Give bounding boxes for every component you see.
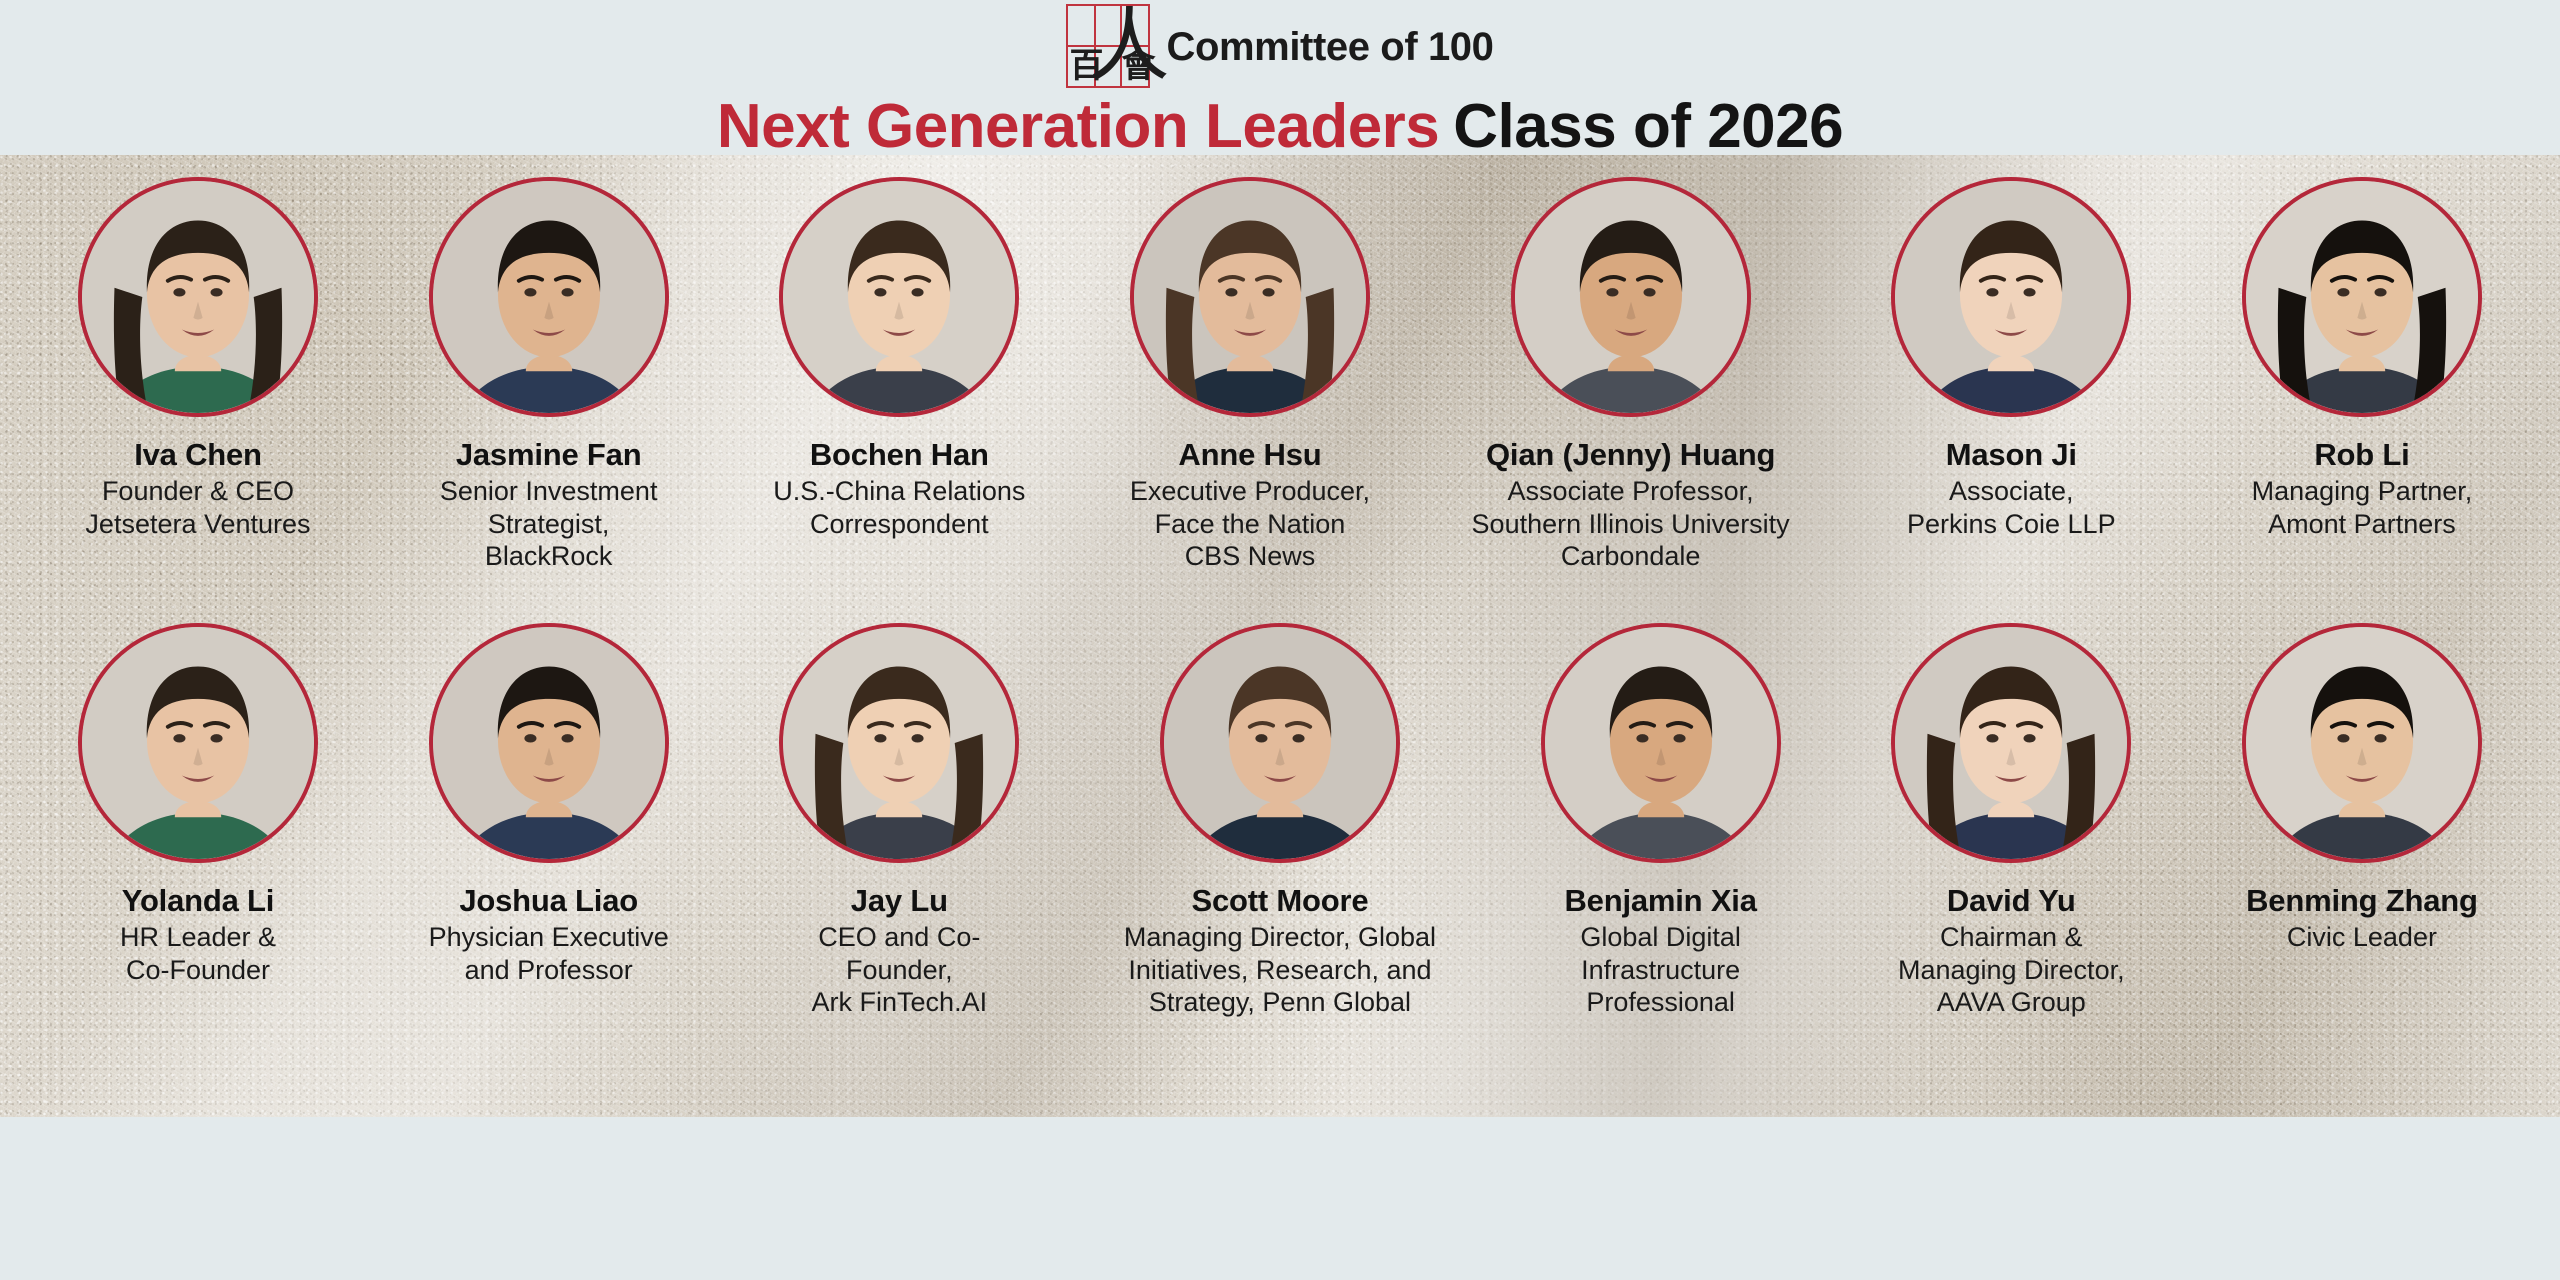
- honoree-name: Jay Lu: [851, 883, 948, 918]
- avatar-photo: [2246, 627, 2478, 859]
- brand-name: Committee of 100: [1166, 27, 1493, 67]
- honoree-title: Senior Investment Strategist, BlackRock: [440, 475, 658, 572]
- honoree-row-1: Iva Chen Founder & CEO Jetsetera Venture…: [0, 177, 2560, 573]
- honoree-card: Bochen Han U.S.-China Relations Correspo…: [729, 177, 1069, 573]
- avatar-photo: [1545, 627, 1777, 859]
- honoree-title: Executive Producer, Face the Nation CBS …: [1130, 475, 1370, 572]
- brand-lockup: 百 人 會 Committee of 100: [0, 16, 2560, 78]
- honoree-row-2: Yolanda Li HR Leader & Co-Founder Joshua…: [0, 623, 2560, 1019]
- honoree-title: Associate, Perkins Coie LLP: [1907, 475, 2116, 540]
- avatar: [78, 623, 318, 863]
- avatar: [1511, 177, 1751, 417]
- avatar-photo: [1164, 627, 1396, 859]
- avatar-photo: [1515, 181, 1747, 413]
- avatar-photo: [783, 181, 1015, 413]
- avatar-photo: [783, 627, 1015, 859]
- page-title-emphasis: Next Generation Leaders: [717, 92, 1439, 161]
- honoree-card: Anne Hsu Executive Producer, Face the Na…: [1080, 177, 1420, 573]
- avatar: [1891, 177, 2131, 417]
- honoree-name: Jasmine Fan: [456, 437, 642, 472]
- honoree-title: Physician Executive and Professor: [429, 921, 669, 986]
- honoree-card: Scott Moore Managing Director, Global In…: [1080, 623, 1480, 1019]
- honoree-title: CEO and Co- Founder, Ark FinTech.AI: [812, 921, 988, 1018]
- honoree-title: Founder & CEO Jetsetera Ventures: [85, 475, 310, 540]
- honoree-title: HR Leader & Co-Founder: [120, 921, 276, 986]
- avatar: [2242, 623, 2482, 863]
- avatar-photo: [82, 181, 314, 413]
- honoree-title: Associate Professor, Southern Illinois U…: [1472, 475, 1790, 572]
- honoree-name: Benming Zhang: [2246, 883, 2478, 918]
- honoree-name: Yolanda Li: [122, 883, 274, 918]
- poster: 百 人 會 Committee of 100 Next Generation L…: [0, 0, 2560, 1280]
- honoree-card: David Yu Chairman & Managing Director, A…: [1841, 623, 2181, 1019]
- honoree-card: Benming Zhang Civic Leader: [2192, 623, 2532, 1019]
- honoree-card: Jay Lu CEO and Co- Founder, Ark FinTech.…: [729, 623, 1069, 1019]
- honoree-title: Chairman & Managing Director, AAVA Group: [1898, 921, 2125, 1018]
- avatar: [1130, 177, 1370, 417]
- honoree-name: Anne Hsu: [1178, 437, 1321, 472]
- honoree-name: Joshua Liao: [459, 883, 638, 918]
- honoree-name: Scott Moore: [1192, 883, 1369, 918]
- honoree-name: Iva Chen: [134, 437, 262, 472]
- avatar: [1541, 623, 1781, 863]
- avatar: [2242, 177, 2482, 417]
- honoree-name: Mason Ji: [1946, 437, 2077, 472]
- honoree-title: Civic Leader: [2287, 921, 2437, 953]
- honoree-card: Benjamin Xia Global Digital Infrastructu…: [1491, 623, 1831, 1019]
- seal-character-hui: 會: [1121, 49, 1155, 83]
- avatar-photo: [82, 627, 314, 859]
- avatar-photo: [1895, 627, 2127, 859]
- honoree-card: Yolanda Li HR Leader & Co-Founder: [28, 623, 368, 1019]
- honoree-name: Benjamin Xia: [1564, 883, 1756, 918]
- avatar: [779, 623, 1019, 863]
- avatar-photo: [1895, 181, 2127, 413]
- honoree-name: Rob Li: [2314, 437, 2409, 472]
- avatar-photo: [2246, 181, 2478, 413]
- honoree-card: Jasmine Fan Senior Investment Strategist…: [379, 177, 719, 573]
- poster-header: 百 人 會 Committee of 100 Next Generation L…: [0, 0, 2560, 160]
- avatar: [429, 623, 669, 863]
- honoree-title: U.S.-China Relations Correspondent: [773, 475, 1025, 540]
- page-title: Next Generation LeadersClass of 2026: [0, 96, 2560, 158]
- honoree-title: Managing Partner, Amont Partners: [2252, 475, 2473, 540]
- avatar-photo: [1134, 181, 1366, 413]
- honoree-grid: Iva Chen Founder & CEO Jetsetera Venture…: [0, 155, 2560, 1117]
- avatar: [1891, 623, 2131, 863]
- avatar: [1160, 623, 1400, 863]
- avatar-photo: [433, 627, 665, 859]
- page-title-class-year: Class of 2026: [1453, 92, 1843, 161]
- honoree-card: Iva Chen Founder & CEO Jetsetera Venture…: [28, 177, 368, 573]
- committee-of-100-seal-icon: 百 人 會: [1066, 4, 1152, 90]
- honoree-title: Managing Director, Global Initiatives, R…: [1124, 921, 1436, 1018]
- honoree-name: David Yu: [1947, 883, 2076, 918]
- honoree-name: Bochen Han: [810, 437, 989, 472]
- avatar-photo: [433, 181, 665, 413]
- honoree-card: Joshua Liao Physician Executive and Prof…: [379, 623, 719, 1019]
- honoree-card: Qian (Jenny) Huang Associate Professor, …: [1431, 177, 1831, 573]
- honoree-card: Rob Li Managing Partner, Amont Partners: [2192, 177, 2532, 573]
- honoree-title: Global Digital Infrastructure Profession…: [1580, 921, 1741, 1018]
- honoree-card: Mason Ji Associate, Perkins Coie LLP: [1841, 177, 2181, 573]
- avatar: [78, 177, 318, 417]
- avatar: [429, 177, 669, 417]
- avatar: [779, 177, 1019, 417]
- honoree-name: Qian (Jenny) Huang: [1486, 437, 1775, 472]
